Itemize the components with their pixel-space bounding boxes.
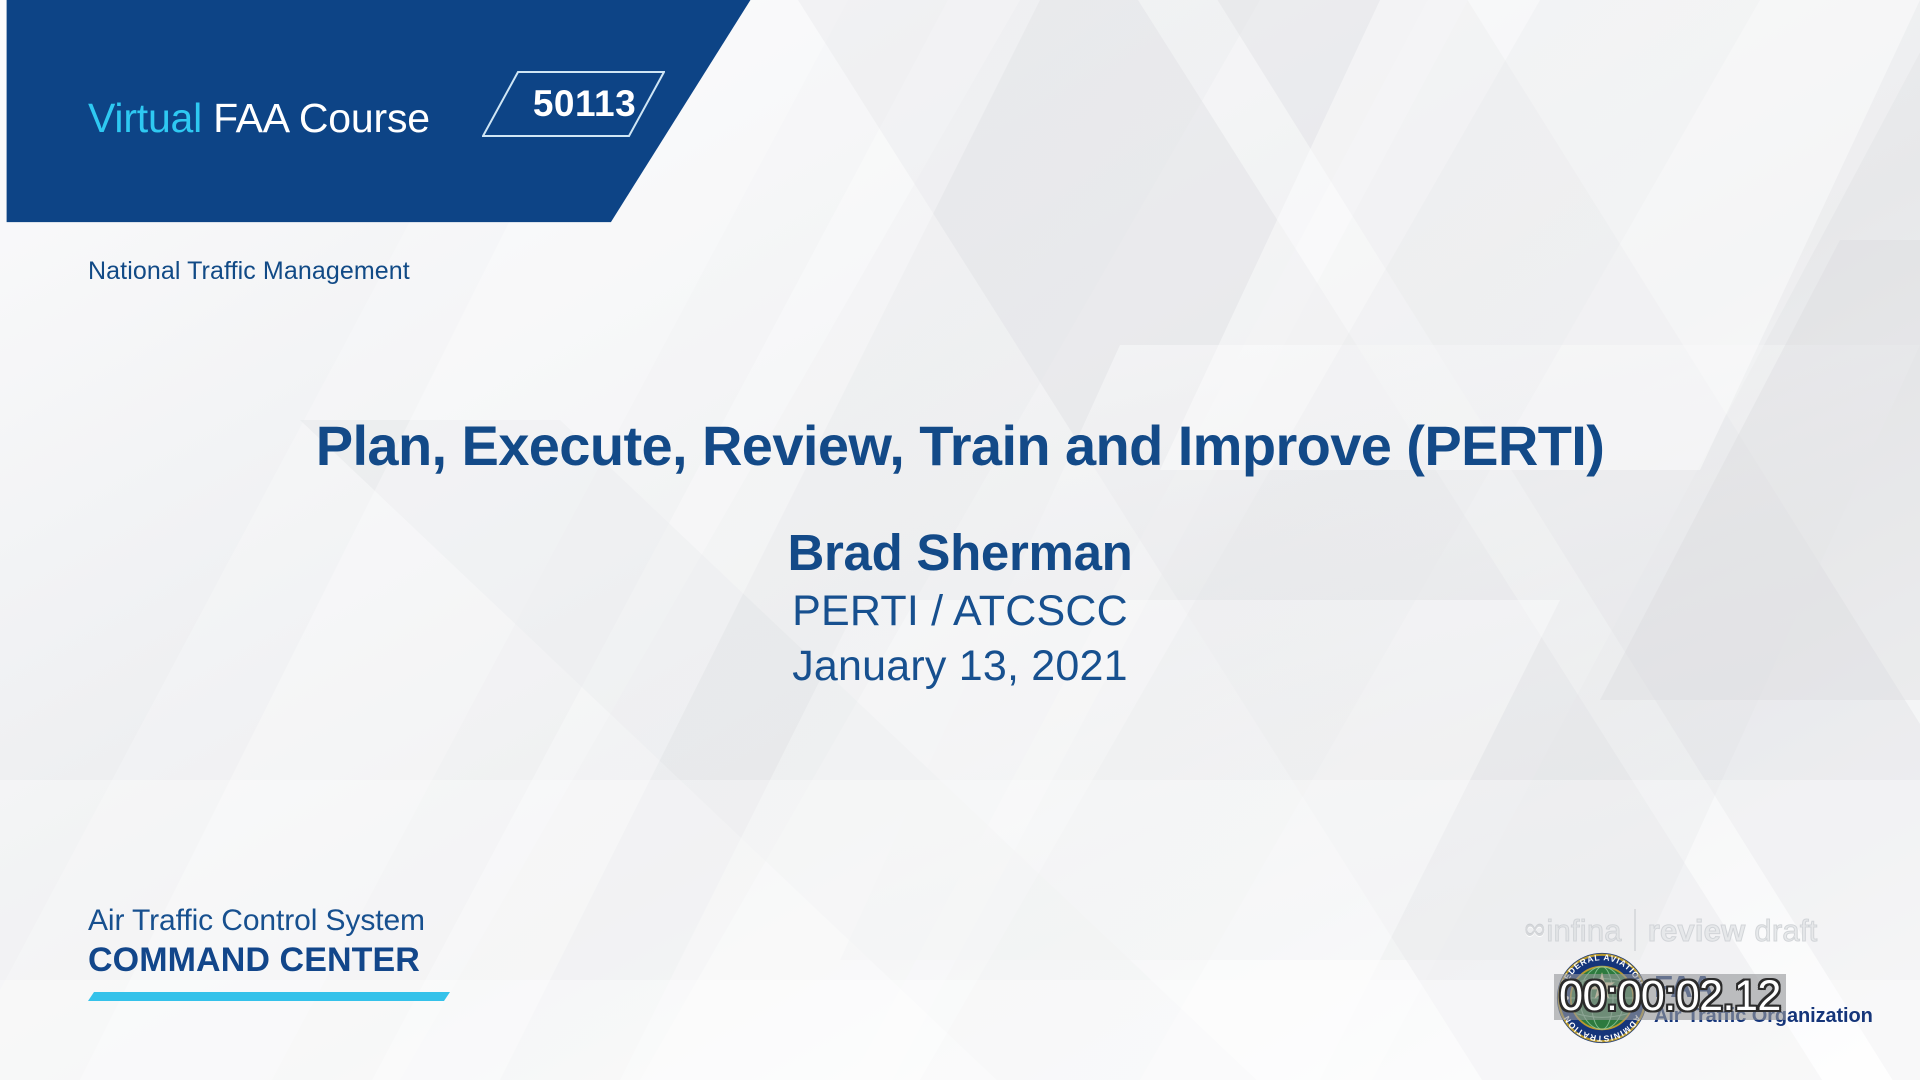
command-center-logo: Air Traffic Control System COMMAND CENTE… xyxy=(88,903,538,1006)
slide-content: Plan, Execute, Review, Train and Improve… xyxy=(0,416,1920,691)
brand-highlight: Virtual xyxy=(88,98,202,139)
presentation-date: January 13, 2021 xyxy=(0,641,1920,692)
presenter-role: PERTI / ATCSCC xyxy=(0,586,1920,637)
department-label: National Traffic Management xyxy=(88,257,410,286)
brand-rest: FAA Course xyxy=(213,98,430,139)
accent-rule xyxy=(88,992,450,1001)
infinity-icon: ∞ xyxy=(1524,915,1545,945)
banner-brand: Virtual FAA Course xyxy=(88,88,430,148)
command-center-line1: Air Traffic Control System xyxy=(88,903,538,938)
timecode-display: 00:00:02.12 xyxy=(1554,968,1786,1024)
header-banner: Virtual FAA Course 50113 xyxy=(0,0,760,226)
course-number-text: 50113 xyxy=(482,71,665,137)
command-center-line2: COMMAND CENTER xyxy=(88,940,538,980)
course-number-badge: 50113 xyxy=(482,71,665,137)
watermark-status-regular: draft xyxy=(1754,915,1817,946)
infina-review-watermark: ∞ infina review draft xyxy=(1524,908,1817,952)
watermark-divider xyxy=(1634,909,1636,951)
presenter-name: Brad Sherman xyxy=(0,526,1920,580)
watermark-brand: infina xyxy=(1546,915,1621,946)
presentation-slide: Virtual FAA Course 50113 National Traffi… xyxy=(0,0,1920,1080)
watermark-status-bold: review xyxy=(1648,915,1746,946)
page-title: Plan, Execute, Review, Train and Improve… xyxy=(0,416,1920,476)
